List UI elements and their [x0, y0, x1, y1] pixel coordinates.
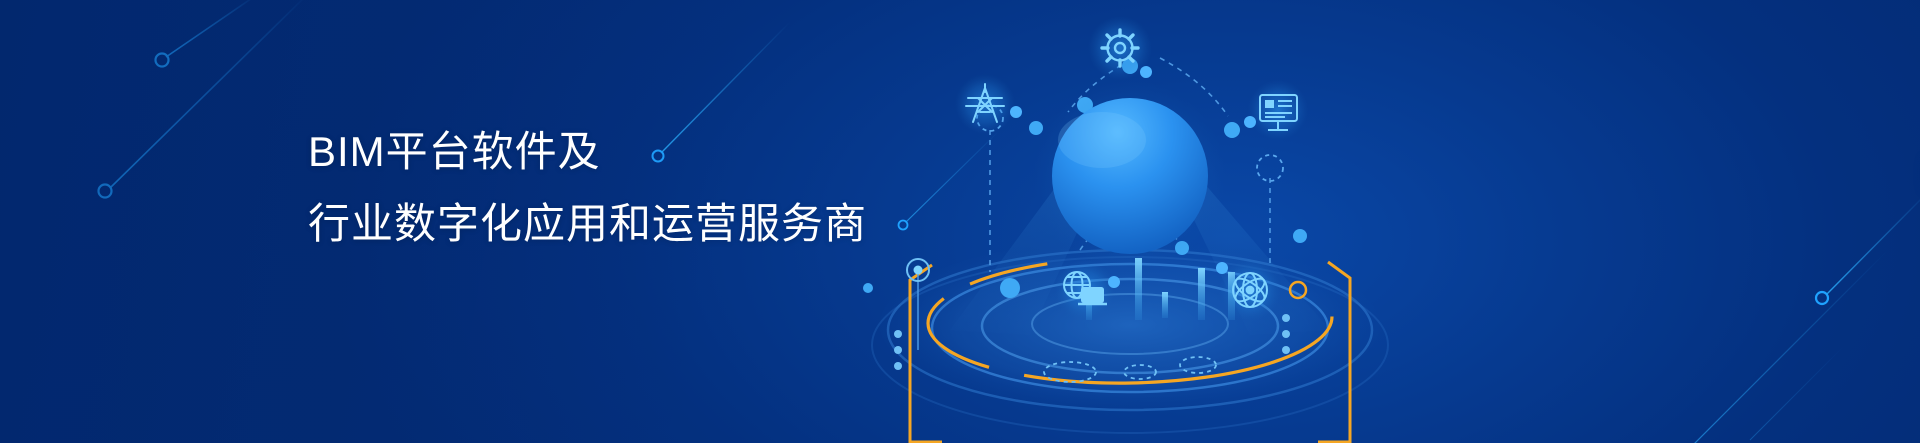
- comet-line-right-faint: [1750, 345, 1845, 440]
- comet-line-right-long: [1690, 248, 1890, 443]
- dot-column-right: [1282, 314, 1290, 354]
- icon-bubble-monitor[interactable]: [1248, 80, 1308, 140]
- hero-headline: BIM平台软件及 行业数字化应用和运营服务商: [308, 116, 867, 260]
- icon-bubble-power-tower[interactable]: [955, 74, 1015, 134]
- bim-core-sphere: [1034, 80, 1226, 272]
- icon-bubble-globe-laptop[interactable]: [1055, 260, 1115, 320]
- bim-illustration: BIM: [830, 0, 1450, 443]
- dot-column-left: [894, 330, 902, 370]
- icon-bubble-network[interactable]: [1219, 259, 1281, 321]
- bim-hero-banner: BIM平台软件及 行业数字化应用和运营服务商: [0, 0, 1920, 443]
- comet-line-top-left: [156, 0, 259, 67]
- comet-line-left: [99, 0, 311, 198]
- comet-line-right: [1816, 190, 1920, 304]
- bim-core-label: BIM: [1885, 148, 1920, 198]
- headline-line-1: BIM平台软件及: [308, 116, 867, 188]
- headline-line-2: 行业数字化应用和运营服务商: [308, 188, 867, 260]
